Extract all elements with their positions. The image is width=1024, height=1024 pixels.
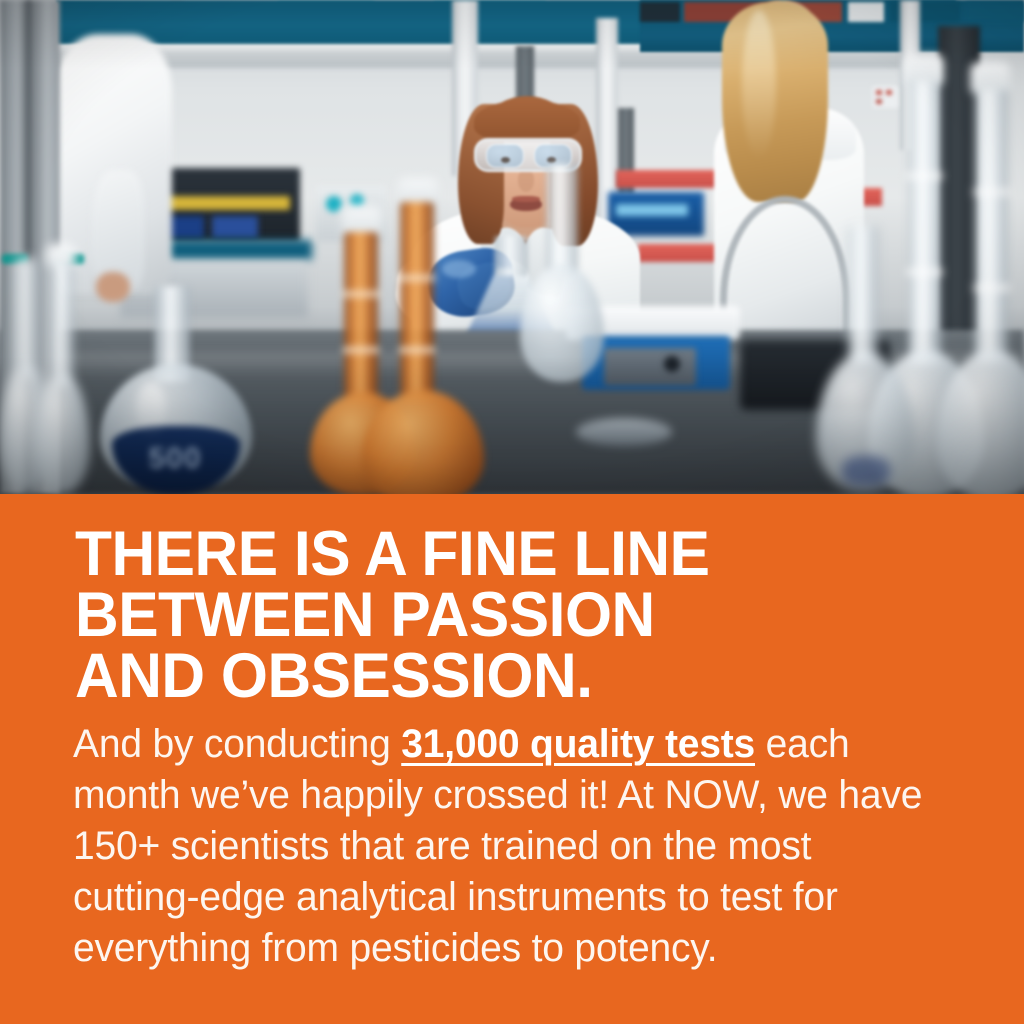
volumetric-flask-500: 500 <box>96 286 258 494</box>
balance-front-panel <box>604 348 696 386</box>
body-paragraph: And by conducting 31,000 quality tests e… <box>73 719 931 974</box>
flask-500-highlight <box>136 382 166 436</box>
left-glassware-blur-b <box>34 244 88 494</box>
body-text-before: And by conducting <box>73 722 401 766</box>
social-graphic-card: 500 <box>0 0 1024 1024</box>
clear-flask-center <box>520 164 604 384</box>
amber-volumetric-flask-short <box>366 178 476 494</box>
orange-text-panel: THERE IS A FINE LINE BETWEEN PASSION AND… <box>0 494 1024 1024</box>
goggle-lens-left <box>486 144 524 168</box>
page-title: THERE IS A FINE LINE BETWEEN PASSION AND… <box>75 524 939 707</box>
clear-volumetric-flask-right-c <box>818 226 910 494</box>
right-scientist-hair-highlight <box>742 10 776 160</box>
quality-tests-highlight: 31,000 quality tests <box>401 722 755 766</box>
instrument-blue-block-b <box>212 216 258 238</box>
scientist-hair-fringe <box>474 100 580 142</box>
clear-volumetric-flask-right-b <box>952 62 1024 494</box>
scientist-eye-right <box>547 157 556 163</box>
lab-photo: 500 <box>0 0 1024 494</box>
scientist-eye-left <box>501 157 510 163</box>
flask-500-label: 500 <box>132 442 218 476</box>
balance-knob <box>664 356 680 372</box>
petri-dish <box>576 418 672 446</box>
